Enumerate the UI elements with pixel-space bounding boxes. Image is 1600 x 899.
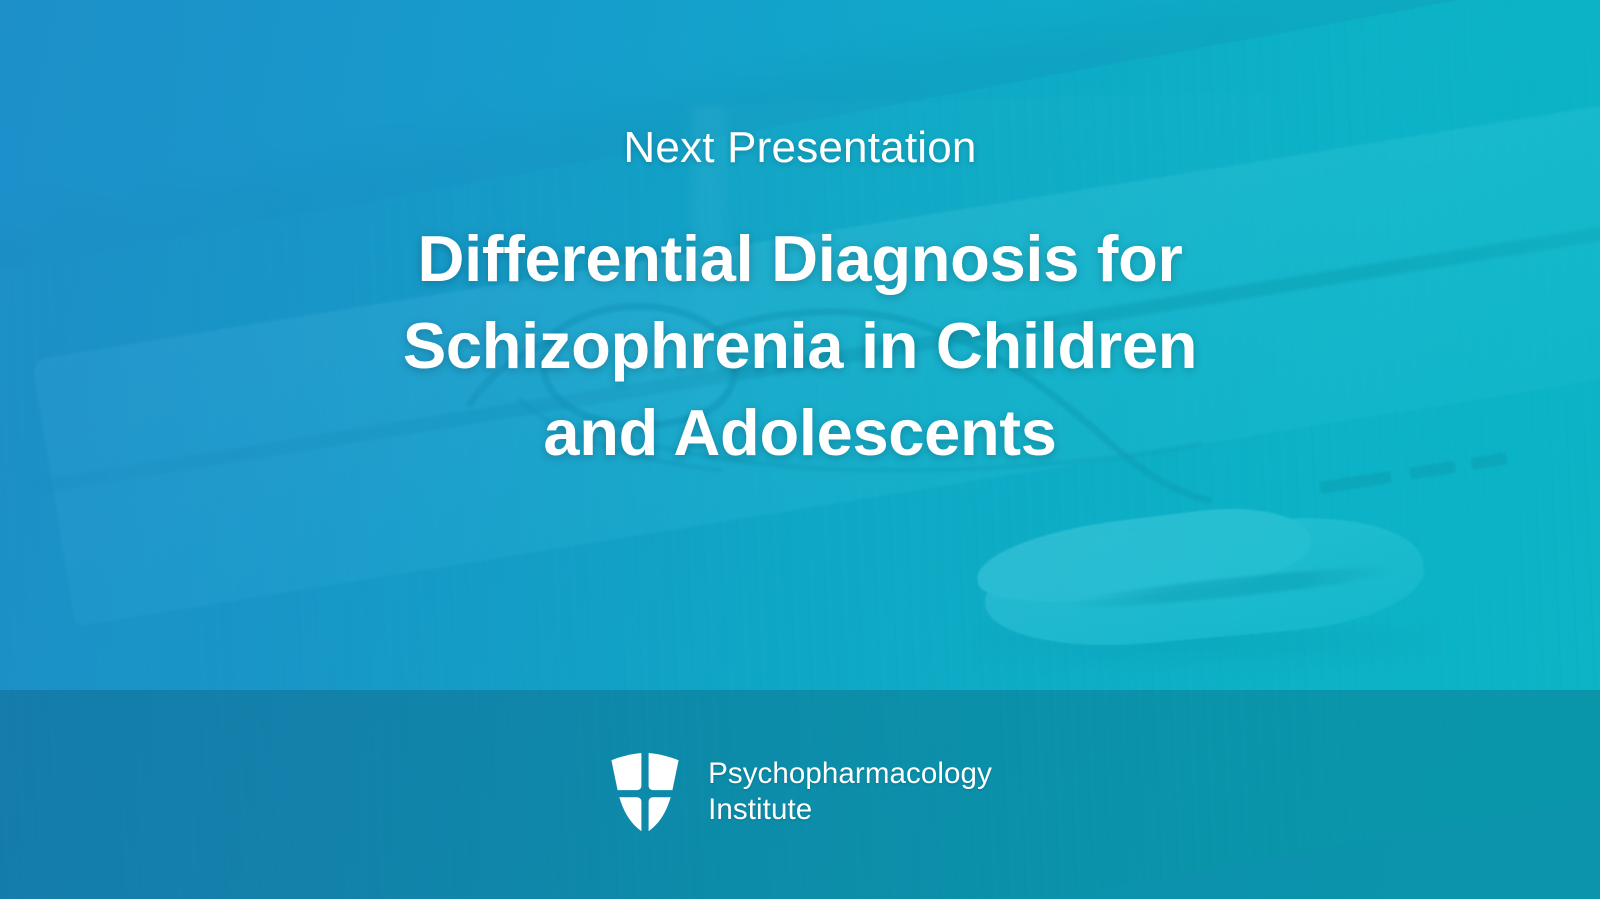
- page-title-line-3: and Adolescents: [170, 389, 1430, 476]
- page-title-line-1: Differential Diagnosis for: [170, 215, 1430, 302]
- headline-block: Next Presentation Differential Diagnosis…: [0, 122, 1600, 476]
- brand-name-line-2: Institute: [708, 792, 992, 828]
- brand-name: Psychopharmacology Institute: [708, 756, 992, 828]
- shield-quadrant-icon: [608, 746, 682, 838]
- brand-footer-bar: Psychopharmacology Institute: [0, 690, 1600, 899]
- brand-name-line-1: Psychopharmacology: [708, 756, 992, 792]
- presentation-slide: Next Presentation Differential Diagnosis…: [0, 0, 1600, 899]
- page-title: Differential Diagnosis for Schizophrenia…: [170, 215, 1430, 476]
- kicker-label: Next Presentation: [170, 122, 1430, 175]
- page-title-line-2: Schizophrenia in Children: [170, 302, 1430, 389]
